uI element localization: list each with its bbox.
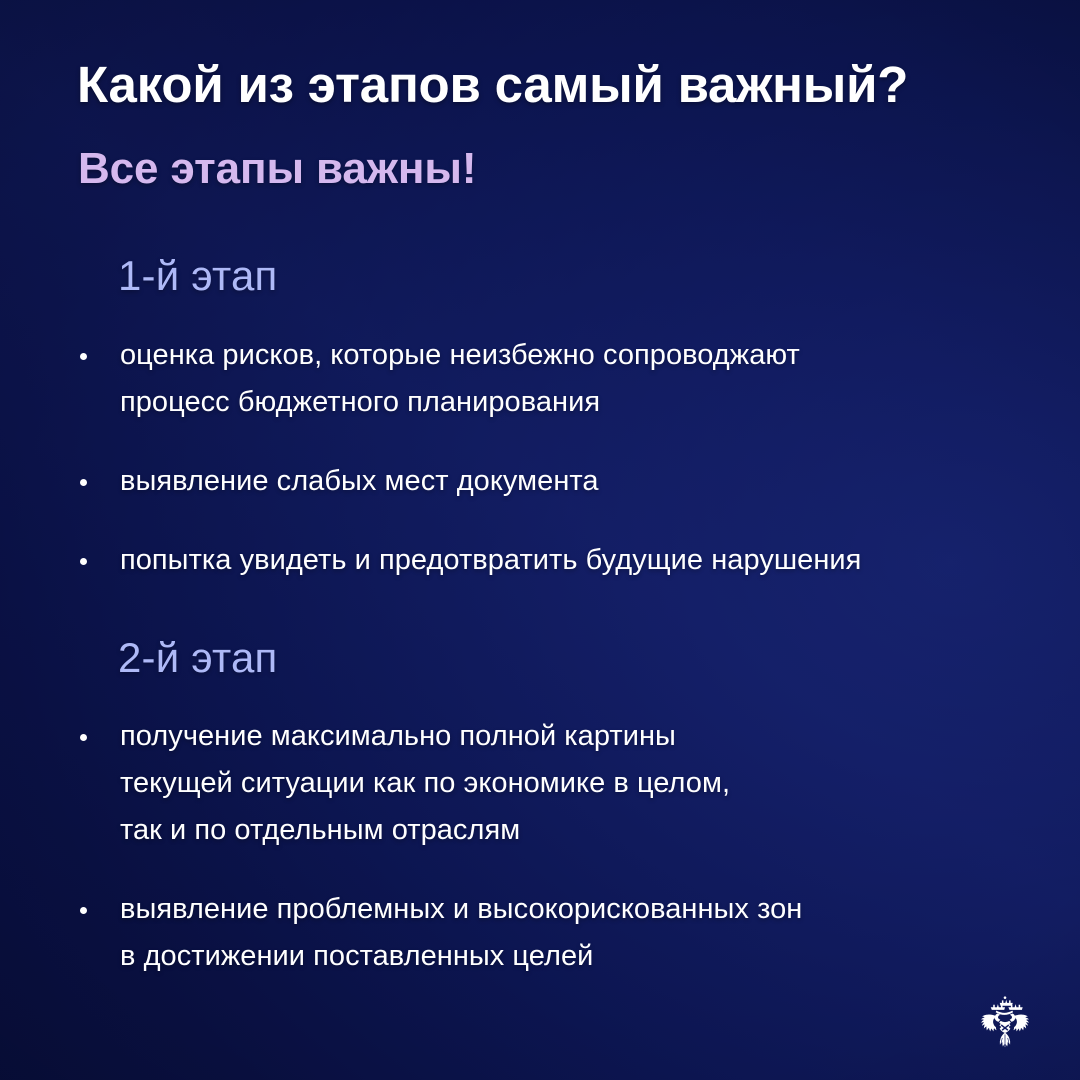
stage-2-bullet-list: получение максимально полной картины тек… bbox=[0, 713, 1080, 980]
bullet-dot-icon bbox=[80, 353, 87, 360]
list-item-text: попытка увидеть и предотвратить будущие … bbox=[120, 537, 1080, 584]
list-item-text: выявление слабых мест документа bbox=[120, 458, 1080, 505]
bullet-dot-icon bbox=[80, 479, 87, 486]
bullet-dot-icon bbox=[80, 907, 87, 914]
page-subtitle: Все этапы важны! bbox=[78, 145, 978, 193]
list-item: получение максимально полной картины тек… bbox=[0, 713, 1080, 854]
stage-section-2: 2-й этап получение максимально полной ка… bbox=[0, 634, 1080, 980]
russian-double-headed-eagle-emblem-icon bbox=[974, 993, 1036, 1055]
list-item: попытка увидеть и предотвратить будущие … bbox=[0, 537, 1080, 584]
list-item-text: получение максимально полной картины тек… bbox=[120, 713, 1080, 854]
list-item: выявление проблемных и высокорискованных… bbox=[0, 886, 1080, 980]
bullet-dot-icon bbox=[80, 734, 87, 741]
stage-heading-2: 2-й этап bbox=[118, 634, 1080, 681]
list-item-text: оценка рисков, которые неизбежно сопрово… bbox=[120, 332, 1080, 426]
list-item: оценка рисков, которые неизбежно сопрово… bbox=[0, 332, 1080, 426]
stage-heading-1: 1-й этап bbox=[118, 252, 1080, 299]
stage-section-1: 1-й этап оценка рисков, которые неизбежн… bbox=[0, 252, 1080, 584]
slide-content: Какой из этапов самый важный? Все этапы … bbox=[0, 0, 1080, 1080]
page-title: Какой из этапов самый важный? bbox=[77, 57, 1027, 112]
list-item-text: выявление проблемных и высокорискованных… bbox=[120, 886, 1080, 980]
slide-root: Какой из этапов самый важный? Все этапы … bbox=[0, 0, 1080, 1080]
bullet-dot-icon bbox=[80, 558, 87, 565]
list-item: выявление слабых мест документа bbox=[0, 458, 1080, 505]
stage-1-bullet-list: оценка рисков, которые неизбежно сопрово… bbox=[0, 332, 1080, 584]
